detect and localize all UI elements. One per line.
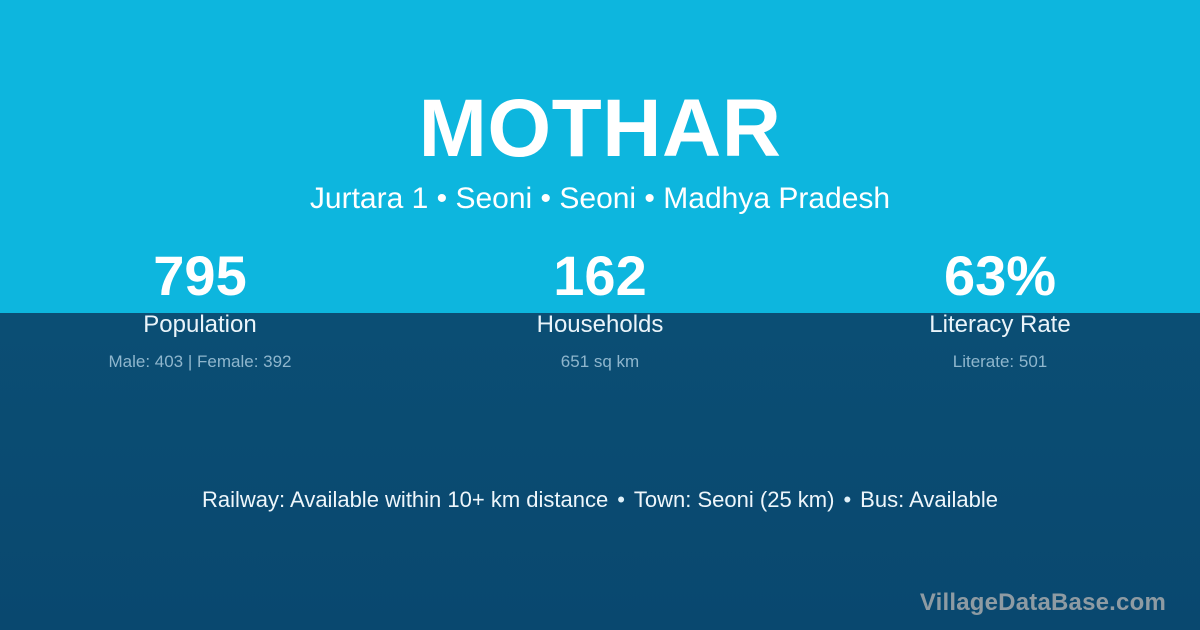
stats-row: 795 Population Male: 403 | Female: 392 1… — [0, 246, 1200, 374]
village-title: MOTHAR — [0, 88, 1200, 170]
bullet-separator-icon: • — [608, 487, 634, 512]
bus-info: Bus: Available — [860, 487, 998, 512]
bullet-separator-icon: • — [834, 487, 860, 512]
stat-label: Population — [0, 309, 400, 341]
village-info-card: MOTHAR Jurtara 1 • Seoni • Seoni • Madhy… — [0, 0, 1200, 630]
stat-value: 63% — [800, 246, 1200, 306]
stat-subtext: Literate: 501 — [800, 350, 1200, 374]
stat-subtext: 651 sq km — [400, 350, 800, 374]
town-info: Town: Seoni (25 km) — [634, 487, 835, 512]
location-breadcrumb: Jurtara 1 • Seoni • Seoni • Madhya Prade… — [0, 180, 1200, 218]
stat-subtext: Male: 403 | Female: 392 — [0, 350, 400, 374]
stat-label: Households — [400, 309, 800, 341]
stat-label: Literacy Rate — [800, 309, 1200, 341]
site-brand-watermark: VillageDataBase.com — [920, 588, 1166, 618]
infrastructure-line: Railway: Available within 10+ km distanc… — [0, 485, 1200, 515]
railway-info: Railway: Available within 10+ km distanc… — [202, 487, 608, 512]
stat-value: 795 — [0, 246, 400, 306]
stat-households: 162 Households 651 sq km — [400, 246, 800, 374]
stat-population: 795 Population Male: 403 | Female: 392 — [0, 246, 400, 374]
stat-literacy-rate: 63% Literacy Rate Literate: 501 — [800, 246, 1200, 374]
stat-value: 162 — [400, 246, 800, 306]
